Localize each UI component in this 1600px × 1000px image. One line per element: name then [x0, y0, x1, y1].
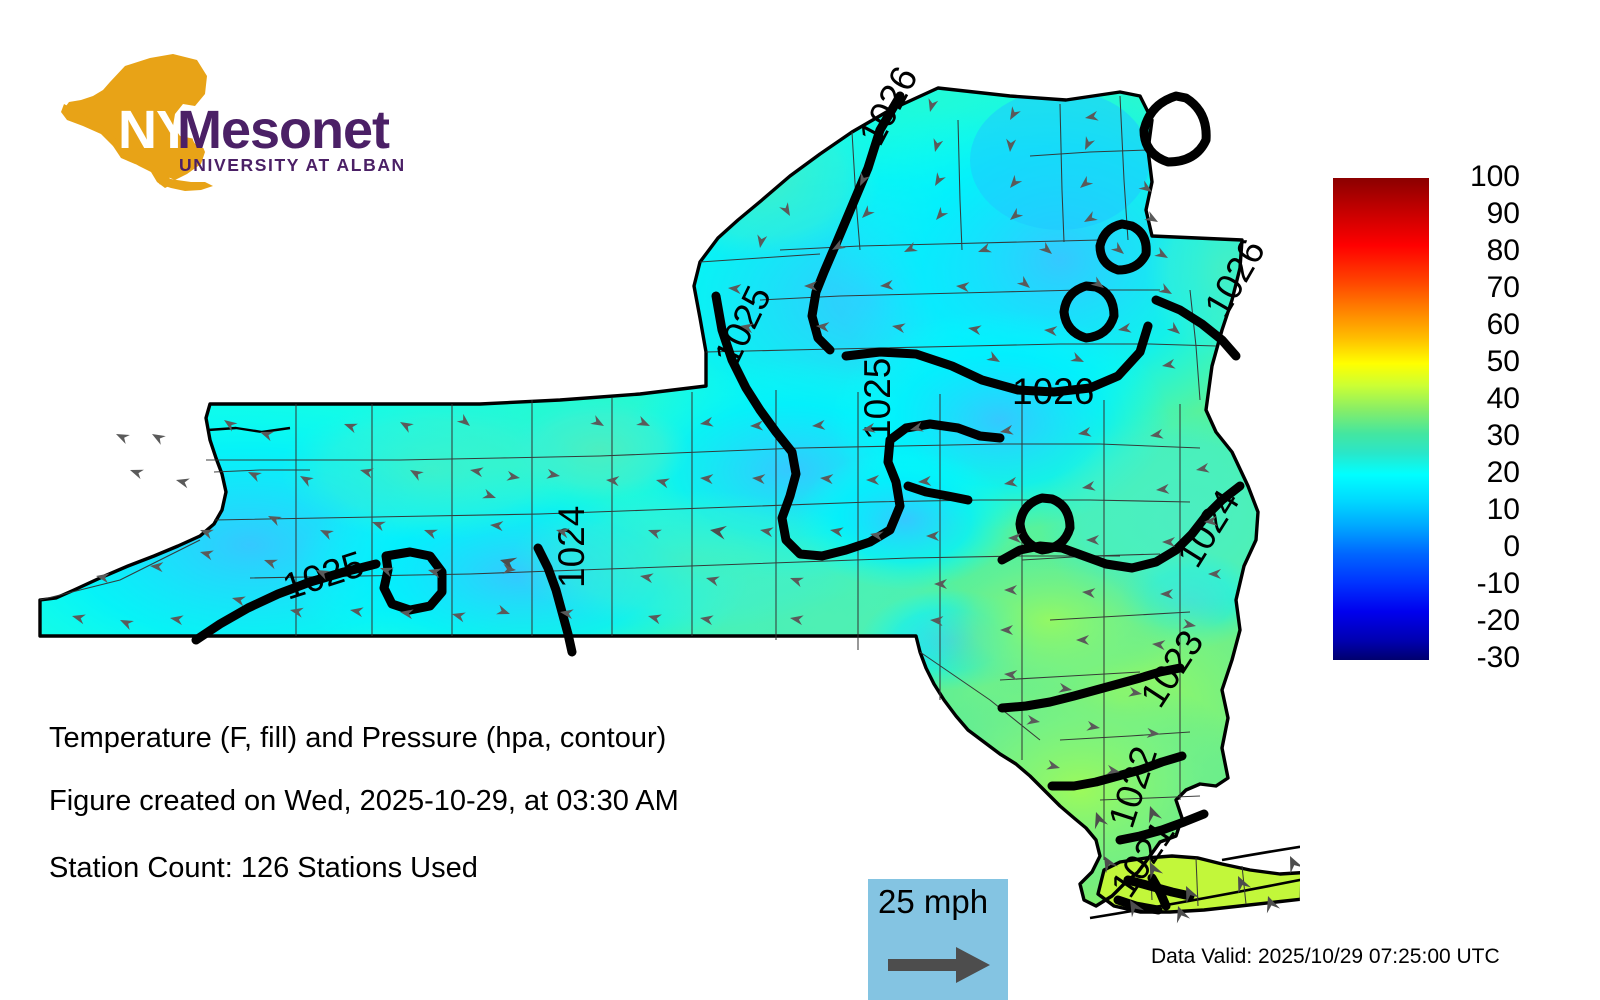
colorbar-tick-60: 60 [1432, 310, 1520, 340]
data-valid-timestamp: Data Valid: 2025/10/29 07:25:00 UTC [1151, 945, 1500, 969]
colorbar-tick-0: 0 [1432, 532, 1520, 562]
wind-arrow-icon [886, 945, 992, 990]
colorbar-tick-50: 50 [1432, 347, 1520, 377]
colorbar-tick-40: 40 [1432, 384, 1520, 414]
contour-label-1026-center: 1026 [1012, 371, 1094, 412]
contour-label-1024-south-central: 1024 [551, 506, 592, 588]
colorbar-tick-100: 100 [1432, 162, 1520, 192]
weather-map-page: NYS Mesonet UNIVERSITY AT ALBANY [0, 0, 1600, 1000]
caption-created: Figure created on Wed, 2025-10-29, at 03… [49, 785, 679, 818]
caption-title: Temperature (F, fill) and Pressure (hpa,… [49, 722, 666, 755]
colorbar-tick-20: 20 [1432, 458, 1520, 488]
colorbar-tick-80: 80 [1432, 236, 1520, 266]
caption-station-count: Station Count: 126 Stations Used [49, 852, 478, 885]
wind-speed-legend: 25 mph [868, 879, 1008, 1000]
colorbar-tick-neg10: -10 [1432, 569, 1520, 599]
colorbar-tick-70: 70 [1432, 273, 1520, 303]
temperature-colorbar [1333, 178, 1429, 660]
colorbar-tick-10: 10 [1432, 495, 1520, 525]
wind-legend-label: 25 mph [878, 883, 988, 921]
colorbar-tick-labels: 100 90 80 70 60 50 40 30 20 10 0 -10 -20… [1432, 160, 1552, 680]
colorbar-tick-90: 90 [1432, 199, 1520, 229]
contour-label-1025-central: 1025 [857, 358, 898, 440]
colorbar-tick-neg30: -30 [1432, 643, 1520, 673]
colorbar-tick-30: 30 [1432, 421, 1520, 451]
colorbar-tick-neg20: -20 [1432, 606, 1520, 636]
